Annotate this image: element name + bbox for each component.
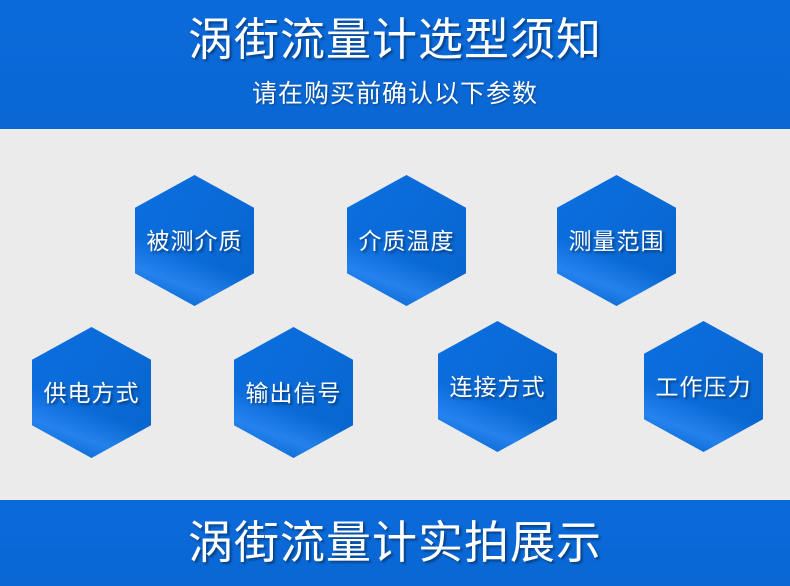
product-detail-page: 涡街流量计选型须知 请在购买前确认以下参数 被测介质 介质温度 测量范围 供电方… xyxy=(0,0,790,586)
hex-item-output-signal[interactable]: 输出信号 xyxy=(234,327,353,458)
hex-label: 工作压力 xyxy=(656,373,752,401)
footer-banner: 涡街流量计实拍展示 xyxy=(0,500,790,586)
hex-label: 介质温度 xyxy=(359,227,455,255)
hex-label: 供电方式 xyxy=(44,379,140,407)
hex-label: 测量范围 xyxy=(569,227,665,255)
page-subtitle: 请在购买前确认以下参数 xyxy=(0,78,790,110)
hex-item-power-supply[interactable]: 供电方式 xyxy=(32,327,151,458)
hex-item-medium-temperature[interactable]: 介质温度 xyxy=(347,175,466,306)
hex-label: 连接方式 xyxy=(450,373,546,401)
hex-item-working-pressure[interactable]: 工作压力 xyxy=(644,321,763,452)
page-title: 涡街流量计选型须知 xyxy=(0,12,790,68)
parameter-hex-grid: 被测介质 介质温度 测量范围 供电方式 输出信号 连接方式 工作压力 xyxy=(0,129,790,500)
footer-title: 涡街流量计实拍展示 xyxy=(188,515,602,571)
hex-item-measured-medium[interactable]: 被测介质 xyxy=(135,175,254,306)
header-banner: 涡街流量计选型须知 请在购买前确认以下参数 xyxy=(0,0,790,129)
hex-label: 输出信号 xyxy=(246,379,342,407)
hex-item-measuring-range[interactable]: 测量范围 xyxy=(557,175,676,306)
hex-label: 被测介质 xyxy=(147,227,243,255)
hex-item-connection-type[interactable]: 连接方式 xyxy=(438,321,557,452)
